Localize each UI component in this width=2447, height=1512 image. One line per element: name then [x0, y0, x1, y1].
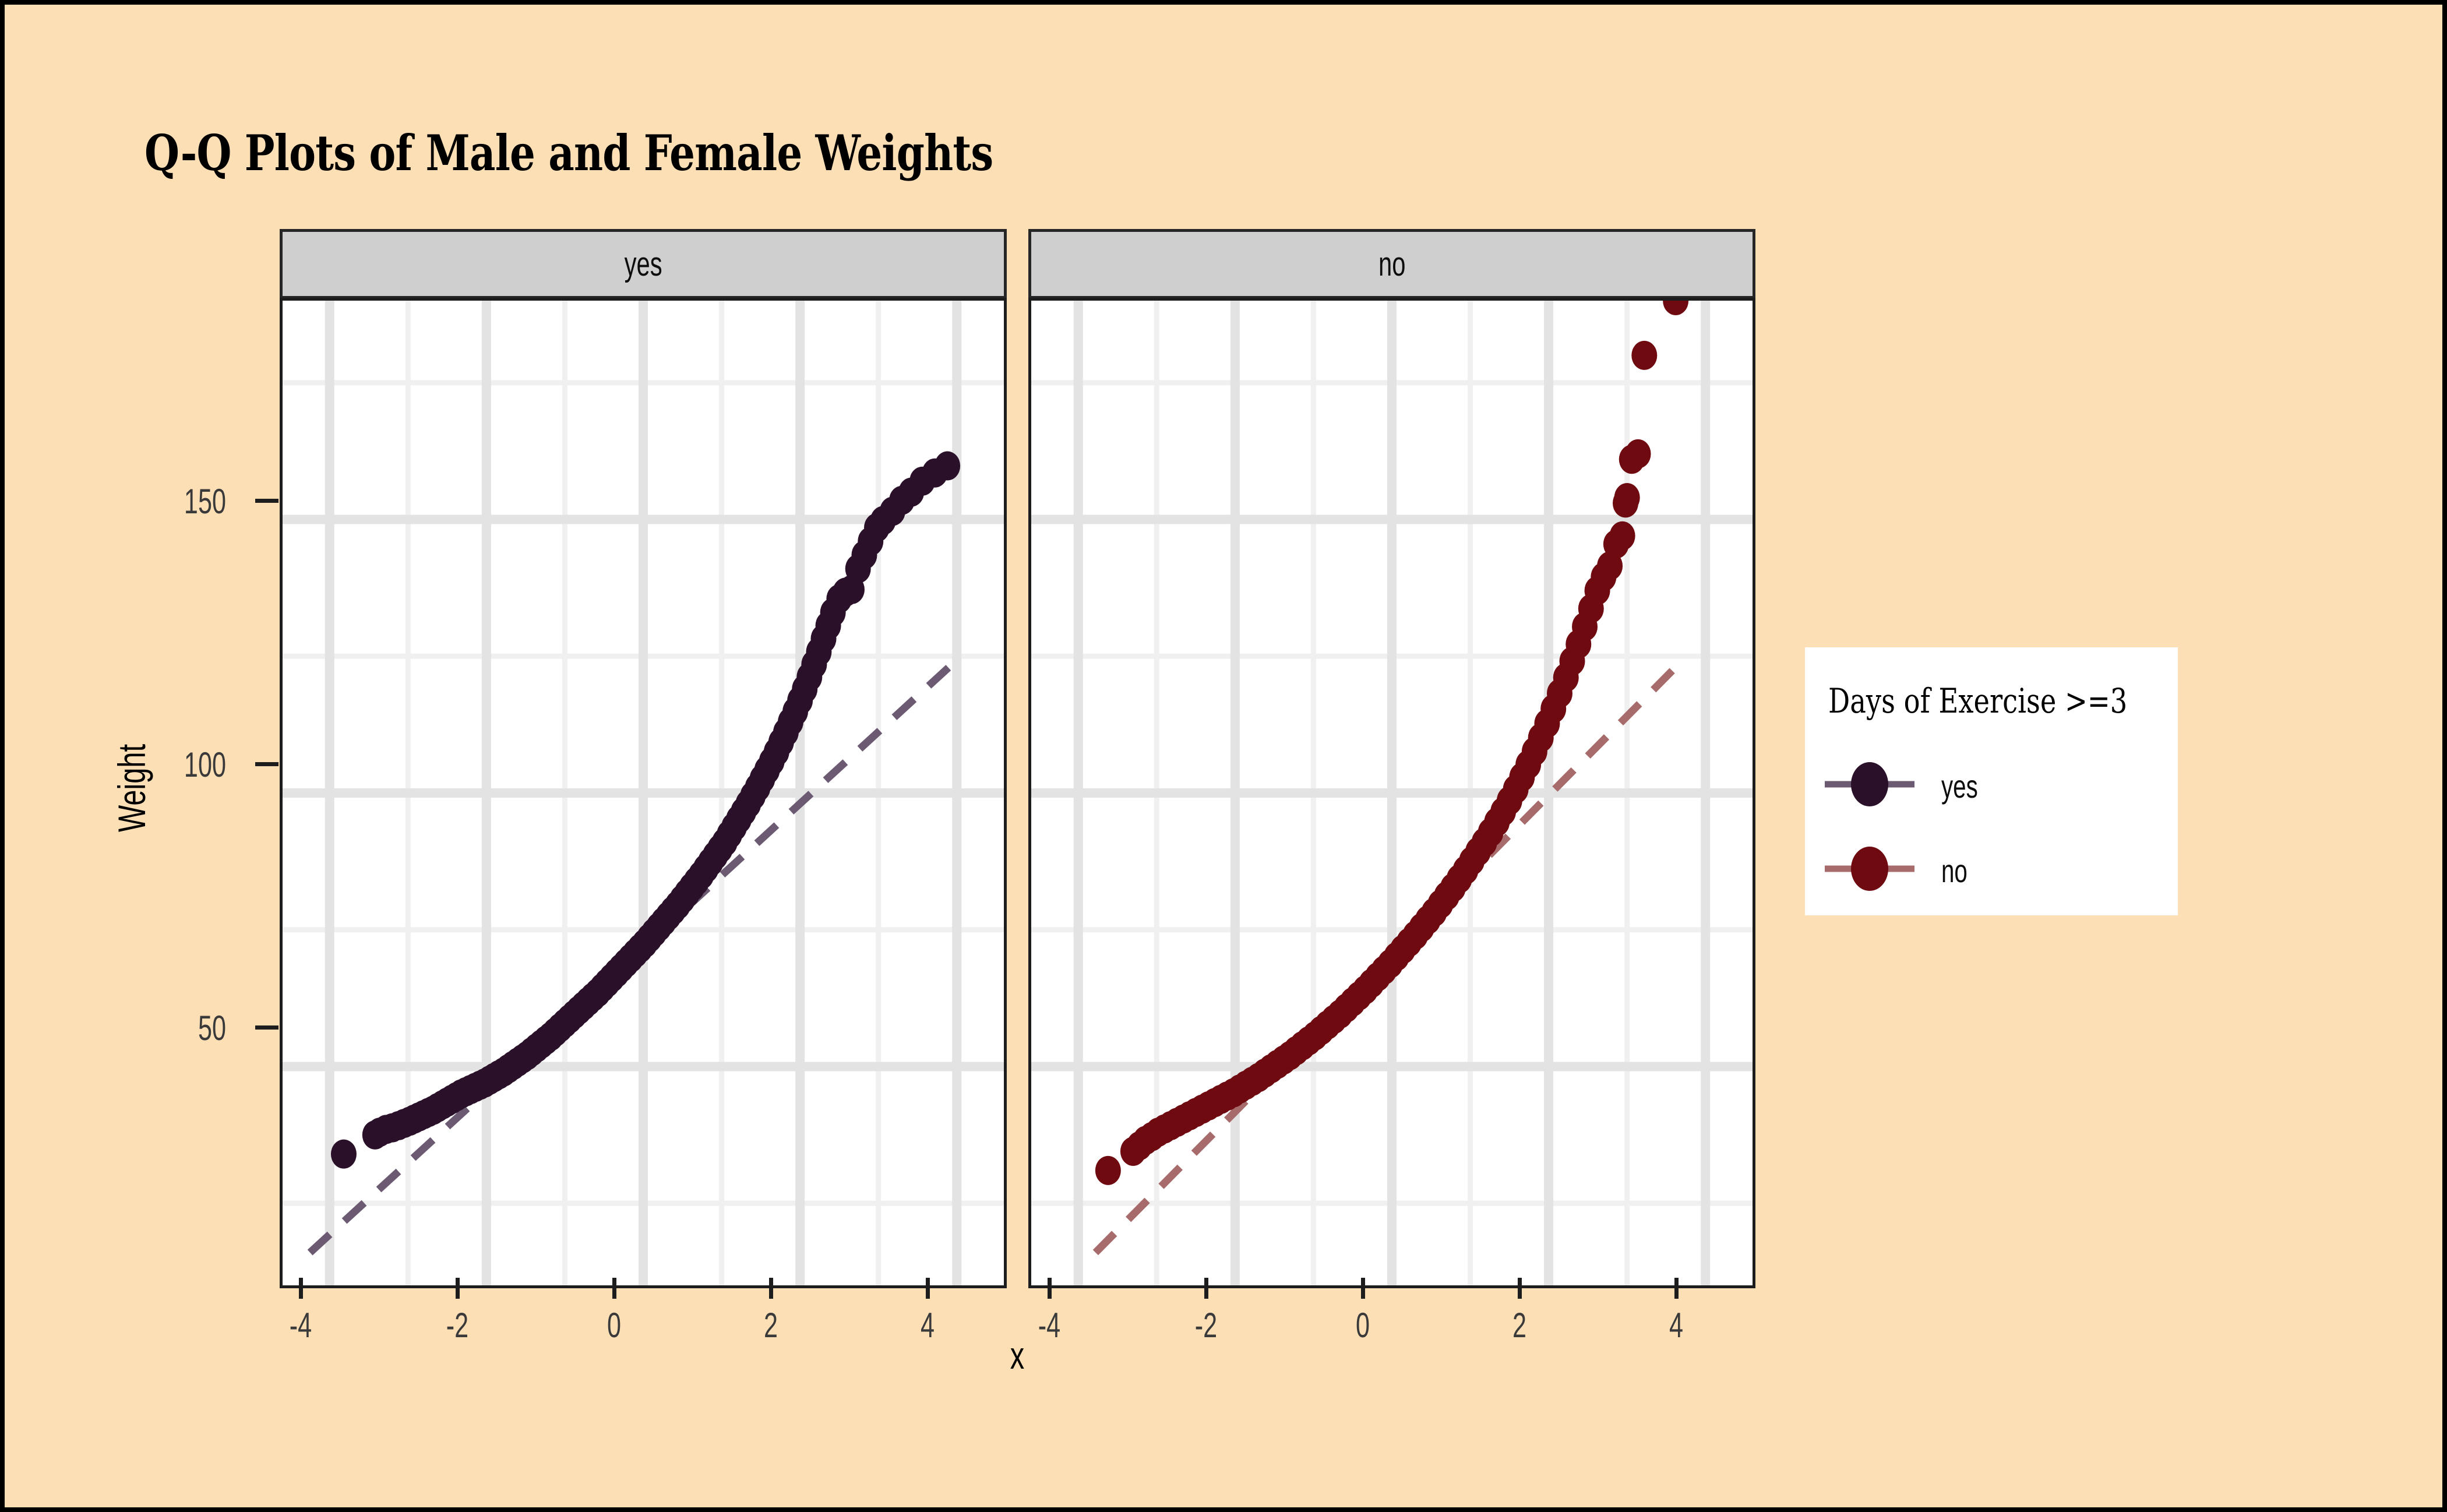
legend-key-yes: [1820, 752, 1919, 816]
x-tick-mark: [612, 1278, 616, 1299]
x-tick-label: 4: [1634, 1305, 1718, 1345]
x-tick-mark: [299, 1278, 303, 1299]
x-tick-mark: [769, 1278, 773, 1299]
y-tick-label: 100: [142, 745, 226, 785]
legend-item-no[interactable]: no: [1820, 837, 2170, 901]
legend-key-no: [1820, 837, 1919, 901]
x-tick-label: 0: [1321, 1305, 1405, 1345]
facet-strip-label: no: [1378, 245, 1405, 284]
legend-label-no: no: [1941, 852, 1968, 890]
x-tick-mark: [1204, 1278, 1208, 1299]
x-tick-mark: [926, 1278, 930, 1299]
x-tick-label: -2: [415, 1305, 499, 1345]
y-tick-mark: [255, 762, 278, 766]
facet-strip-label: yes: [624, 245, 662, 284]
legend-title: Days of Exercise >=3: [1828, 681, 2127, 721]
x-tick-label: 2: [729, 1305, 813, 1345]
x-tick-label: 4: [886, 1305, 969, 1345]
x-tick-label: 2: [1478, 1305, 1561, 1345]
facet-strip-no: no: [1028, 229, 1755, 299]
x-tick-mark: [1674, 1278, 1679, 1299]
x-tick-mark: [1361, 1278, 1365, 1299]
y-tick-mark: [255, 1025, 278, 1030]
legend-label-yes: yes: [1941, 767, 1978, 805]
legend: Days of Exercise >=3 yes no: [1805, 647, 2178, 915]
y-tick-label: 150: [142, 481, 226, 521]
x-tick-mark: [456, 1278, 460, 1299]
x-tick-mark: [1048, 1278, 1052, 1299]
y-tick-mark: [255, 499, 278, 503]
y-tick-label: 50: [142, 1008, 226, 1048]
panel-no: [1028, 298, 1755, 1288]
legend-item-yes[interactable]: yes: [1820, 752, 2170, 816]
x-tick-label: 0: [572, 1305, 656, 1345]
facet-strip-yes: yes: [280, 229, 1007, 299]
x-tick-label: -4: [259, 1305, 343, 1345]
panel-yes: [280, 298, 1007, 1288]
x-tick-mark: [1518, 1278, 1522, 1299]
figure-frame: Q-Q Plots of Male and Female Weights Wei…: [5, 5, 2442, 1507]
x-axis-label: x: [974, 1333, 1060, 1377]
x-tick-label: -2: [1164, 1305, 1248, 1345]
